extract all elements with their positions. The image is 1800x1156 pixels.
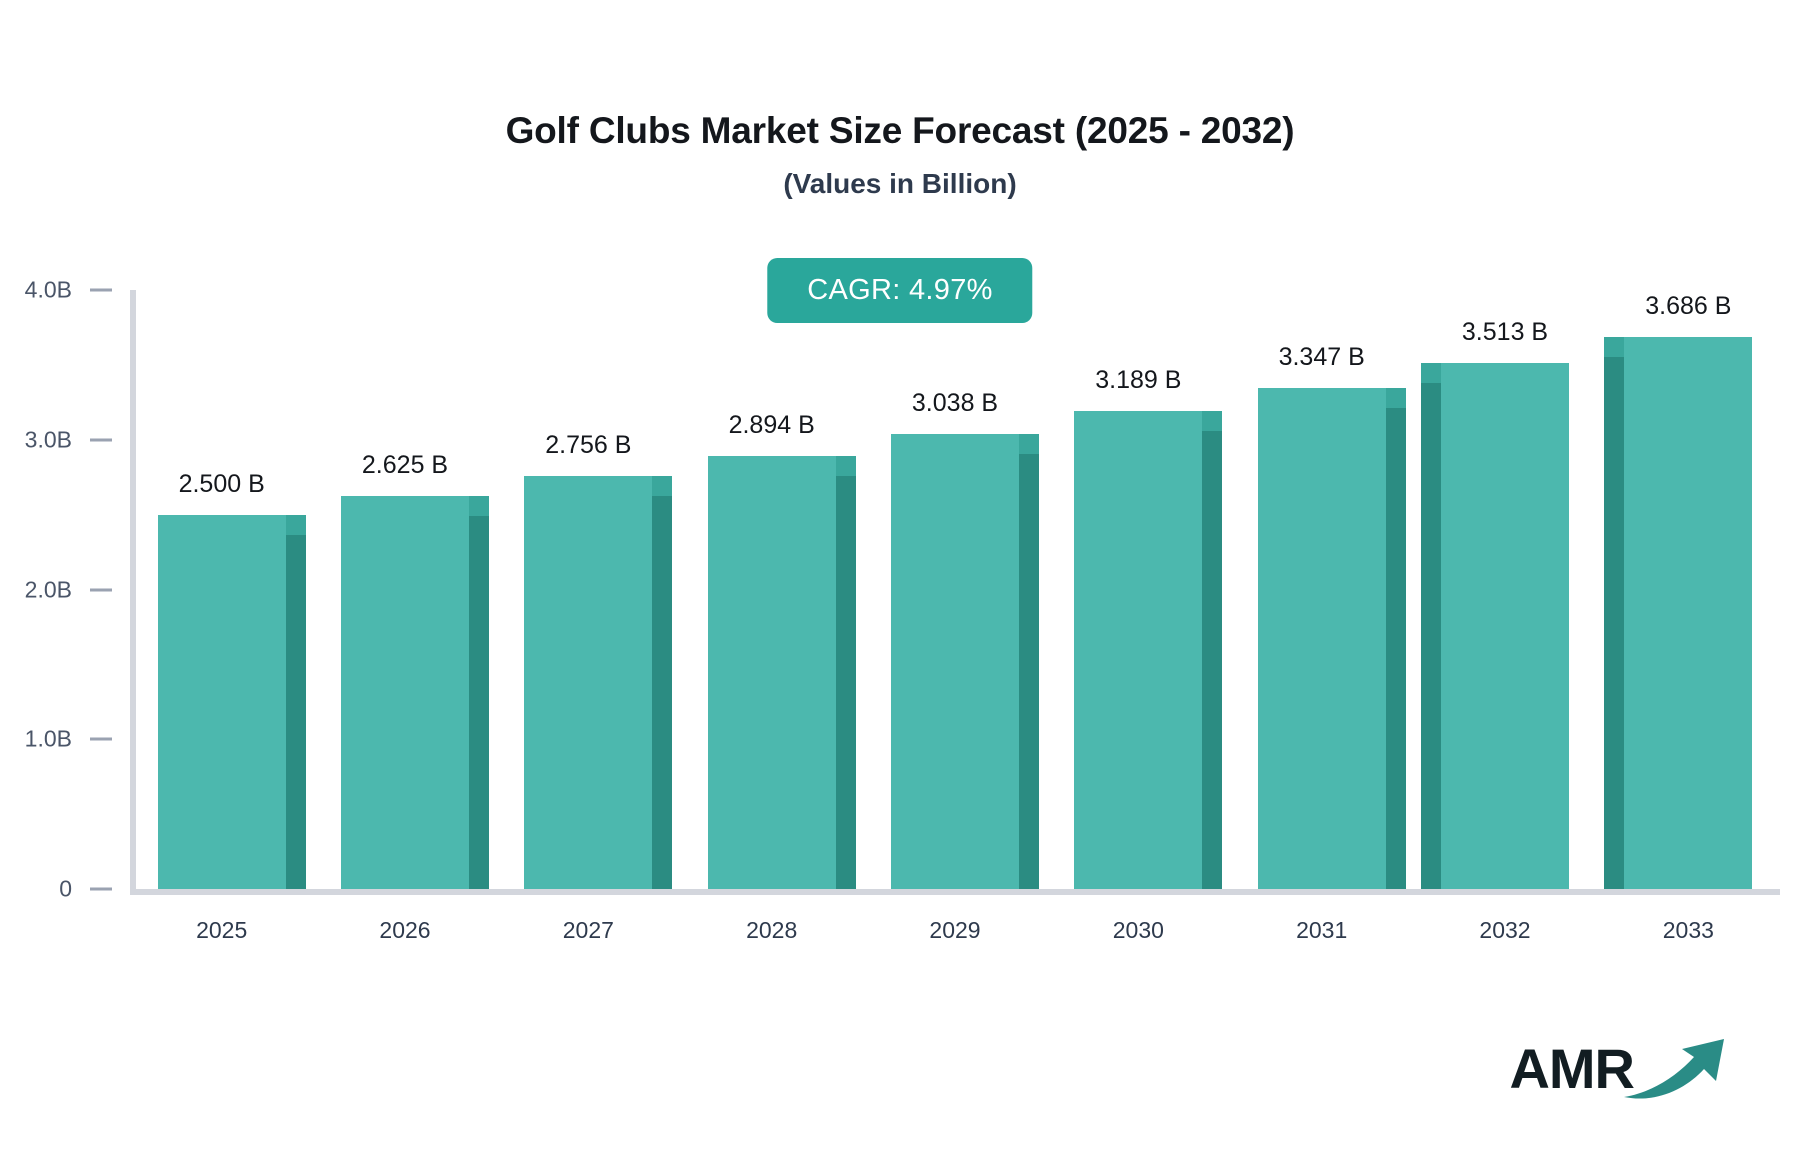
growth-arrow-icon — [1620, 1033, 1740, 1110]
bar-side-panel — [1604, 357, 1624, 889]
bar-top-bevel — [469, 496, 489, 516]
bar-top-bevel — [286, 515, 306, 535]
y-axis-tick-mark — [90, 738, 112, 741]
y-axis-tick-mark — [90, 438, 112, 441]
x-axis-category-label: 2025 — [196, 917, 247, 944]
bar-value-label: 2.756 B — [545, 431, 631, 460]
y-axis-tick-label: 4.0B — [25, 277, 72, 304]
x-axis-category-label: 2027 — [563, 917, 614, 944]
bar-face — [1074, 411, 1202, 889]
bar-side-panel — [836, 476, 856, 889]
bar-face — [341, 496, 469, 889]
bar-side-panel — [1421, 383, 1441, 889]
y-axis-tick-label: 1.0B — [25, 726, 72, 753]
chart-subtitle: (Values in Billion) — [0, 168, 1800, 200]
chart-title: Golf Clubs Market Size Forecast (2025 - … — [0, 110, 1800, 152]
bar-face — [708, 456, 836, 889]
bar-top-bevel — [1604, 337, 1624, 357]
y-axis-tick-label: 0 — [59, 876, 72, 903]
x-axis-line — [130, 889, 1780, 895]
amr-logo: AMR — [1509, 1028, 1740, 1108]
bar-side-panel — [1202, 431, 1222, 889]
bar[interactable]: 2.500 B2025 — [158, 515, 286, 889]
bar-face — [1258, 388, 1386, 889]
bar-face — [1441, 363, 1569, 889]
bar-value-label: 3.686 B — [1645, 292, 1731, 321]
x-axis-category-label: 2029 — [929, 917, 980, 944]
bar-value-label: 3.347 B — [1279, 343, 1365, 372]
bar[interactable]: 2.625 B2026 — [341, 496, 469, 889]
bar-value-label: 3.038 B — [912, 389, 998, 418]
amr-wordmark: AMR — [1509, 1036, 1634, 1101]
bar-top-bevel — [1019, 434, 1039, 454]
bar-value-label: 2.894 B — [729, 411, 815, 440]
bar-top-bevel — [1421, 363, 1441, 383]
bar-face — [158, 515, 286, 889]
bar-top-bevel — [1386, 388, 1406, 408]
x-axis-category-label: 2033 — [1663, 917, 1714, 944]
bar-value-label: 2.625 B — [362, 451, 448, 480]
y-axis-tick-label: 3.0B — [25, 426, 72, 453]
bar-value-label: 3.513 B — [1462, 318, 1548, 347]
bar-side-panel — [469, 516, 489, 889]
bar-top-bevel — [652, 476, 672, 496]
x-axis-category-label: 2031 — [1296, 917, 1347, 944]
bar-face — [524, 476, 652, 889]
bar-side-panel — [1386, 408, 1406, 889]
bar[interactable]: 3.347 B2031 — [1258, 388, 1386, 889]
bar-side-panel — [1019, 454, 1039, 889]
bar-top-bevel — [1202, 411, 1222, 431]
bar[interactable]: 2.894 B2028 — [708, 456, 836, 889]
y-axis-tick-mark — [90, 588, 112, 591]
bar[interactable]: 3.513 B2032 — [1441, 363, 1569, 889]
bar-side-panel — [286, 535, 306, 889]
x-axis-category-label: 2032 — [1479, 917, 1530, 944]
y-axis-tick-mark — [90, 888, 112, 891]
bar-face — [891, 434, 1019, 889]
x-axis-category-label: 2030 — [1113, 917, 1164, 944]
bar-value-label: 2.500 B — [179, 470, 265, 499]
bar-top-bevel — [836, 456, 856, 476]
x-axis-category-label: 2026 — [379, 917, 430, 944]
x-axis-category-label: 2028 — [746, 917, 797, 944]
bar-face — [1624, 337, 1752, 889]
y-axis-tick-label: 2.0B — [25, 576, 72, 603]
bar-side-panel — [652, 496, 672, 889]
bar[interactable]: 3.038 B2029 — [891, 434, 1019, 889]
y-axis-line — [130, 290, 136, 895]
bar[interactable]: 2.756 B2027 — [524, 476, 652, 889]
bar[interactable]: 3.189 B2030 — [1074, 411, 1202, 889]
bar-value-label: 3.189 B — [1095, 366, 1181, 395]
y-axis-tick-mark — [90, 289, 112, 292]
plot-area: 01.0B2.0B3.0B4.0B 2.500 B20252.625 B2026… — [130, 290, 1780, 895]
bar[interactable]: 3.686 B2033 — [1624, 337, 1752, 889]
